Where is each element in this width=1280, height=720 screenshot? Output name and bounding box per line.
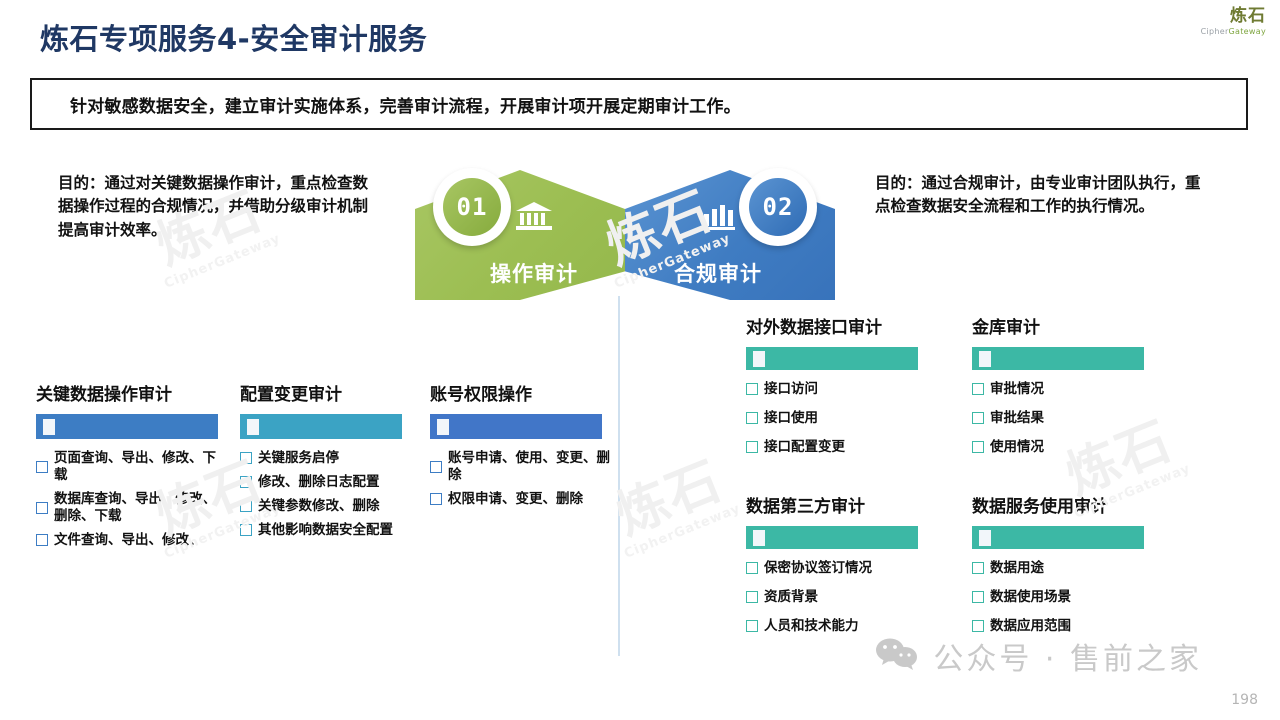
column-title: 金库审计 <box>972 313 1152 338</box>
bar-square-marker <box>247 419 259 435</box>
logo-en-part1: Cipher <box>1201 27 1229 36</box>
column-title: 关键数据操作审计 <box>36 380 226 405</box>
watermark-big-text: 炼石 <box>601 449 738 549</box>
checkbox-icon[interactable] <box>746 591 758 603</box>
checkbox-icon[interactable] <box>240 452 252 464</box>
chevron-badge-01-number: 01 <box>443 178 501 236</box>
checkbox-icon[interactable] <box>430 493 442 505</box>
list-item[interactable]: 人员和技术能力 <box>746 618 936 635</box>
list-item-label: 数据库查询、导出、修改、删除、下载 <box>54 491 226 525</box>
purpose-right-text: 通过合规审计，由专业审计团队执行，重点检查数据安全流程和工作的执行情况。 <box>875 174 1201 215</box>
list-item-label: 文件查询、导出、修改、 <box>54 532 203 549</box>
list-item-label: 使用情况 <box>990 439 1044 456</box>
checklist: 账号申请、使用、变更、删除 权限申请、变更、删除 <box>430 450 610 508</box>
purpose-right: 目的：通过合规审计，由专业审计团队执行，重点检查数据安全流程和工作的执行情况。 <box>875 172 1215 219</box>
column-title: 数据第三方审计 <box>746 492 936 517</box>
vertical-divider <box>618 296 620 656</box>
list-item-label: 接口使用 <box>764 410 818 427</box>
list-item[interactable]: 页面查询、导出、修改、下载 <box>36 450 226 484</box>
bar-square-marker <box>437 419 449 435</box>
bar-square-marker <box>753 530 765 546</box>
checklist: 数据用途 数据使用场景 数据应用范围 <box>972 560 1152 635</box>
checkbox-icon[interactable] <box>746 383 758 395</box>
column-title: 账号权限操作 <box>430 380 610 405</box>
list-item-label: 审批情况 <box>990 381 1044 398</box>
list-item[interactable]: 账号申请、使用、变更、删除 <box>430 450 610 484</box>
summary-banner-text: 针对敏感数据安全，建立审计实施体系，完善审计流程，开展审计项开展定期审计工作。 <box>32 92 741 117</box>
chevron-label-01: 操作审计 <box>429 258 639 288</box>
list-item-label: 关键参数修改、删除 <box>258 498 380 515</box>
footer-text: 公众号 · 售前之家 <box>933 634 1202 678</box>
list-item[interactable]: 数据使用场景 <box>972 589 1152 606</box>
column-external-data-interface-audit: 对外数据接口审计 接口访问 接口使用 接口配置变更 <box>746 313 926 468</box>
checkbox-icon[interactable] <box>746 412 758 424</box>
list-item[interactable]: 数据应用范围 <box>972 618 1152 635</box>
list-item[interactable]: 文件查询、导出、修改、 <box>36 532 226 549</box>
column-color-bar <box>746 347 918 370</box>
chevron-badge-01: 01 <box>433 168 511 246</box>
list-item[interactable]: 权限申请、变更、删除 <box>430 491 610 508</box>
list-item-label: 保密协议签订情况 <box>764 560 872 577</box>
wechat-icon <box>875 637 919 675</box>
checkbox-icon[interactable] <box>36 461 48 473</box>
column-color-bar <box>972 347 1144 370</box>
list-item[interactable]: 资质背景 <box>746 589 936 606</box>
list-item-label: 数据使用场景 <box>990 589 1071 606</box>
checkbox-icon[interactable] <box>972 441 984 453</box>
chevron-label-02: 合规审计 <box>613 258 823 288</box>
checkbox-icon[interactable] <box>746 620 758 632</box>
list-item[interactable]: 数据用途 <box>972 560 1152 577</box>
column-config-change-audit: 配置变更审计 关键服务启停 修改、删除日志配置 关键参数修改、删除 其他影响数据… <box>240 380 415 546</box>
checkbox-icon[interactable] <box>972 591 984 603</box>
list-item[interactable]: 使用情况 <box>972 439 1152 456</box>
checkbox-icon[interactable] <box>240 524 252 536</box>
column-color-bar <box>240 414 402 439</box>
page-title: 炼石专项服务4-安全审计服务 <box>40 16 427 58</box>
list-item[interactable]: 接口使用 <box>746 410 926 427</box>
checkbox-icon[interactable] <box>36 534 48 546</box>
purpose-left-text: 通过对关键数据操作审计，重点检查数据操作过程的合规情况，并借助分级审计机制提高审… <box>58 174 368 239</box>
list-item[interactable]: 审批情况 <box>972 381 1152 398</box>
chevron-group: 操作审计 合规审计 01 02 <box>415 158 835 300</box>
bar-square-marker <box>979 530 991 546</box>
checkbox-icon[interactable] <box>240 476 252 488</box>
logo-english-text: CipherGateway <box>1201 28 1266 36</box>
list-item-label: 页面查询、导出、修改、下载 <box>54 450 226 484</box>
list-item[interactable]: 关键参数修改、删除 <box>240 498 415 515</box>
list-item-label: 修改、删除日志配置 <box>258 474 380 491</box>
bar-square-marker <box>753 351 765 367</box>
list-item[interactable]: 数据库查询、导出、修改、删除、下载 <box>36 491 226 525</box>
column-key-data-operation-audit: 关键数据操作审计 页面查询、导出、修改、下载 数据库查询、导出、修改、删除、下载… <box>36 380 226 555</box>
column-data-service-usage-audit: 数据服务使用审计 数据用途 数据使用场景 数据应用范围 <box>972 492 1152 647</box>
watermark: 炼石 CipherGateway <box>601 449 743 562</box>
list-item-label: 审批结果 <box>990 410 1044 427</box>
bar-square-marker <box>43 419 55 435</box>
list-item-label: 数据用途 <box>990 560 1044 577</box>
column-title: 配置变更审计 <box>240 380 415 405</box>
list-item[interactable]: 保密协议签订情况 <box>746 560 936 577</box>
checkbox-icon[interactable] <box>746 441 758 453</box>
list-item-label: 其他影响数据安全配置 <box>258 522 393 539</box>
list-item-label: 数据应用范围 <box>990 618 1071 635</box>
checklist: 关键服务启停 修改、删除日志配置 关键参数修改、删除 其他影响数据安全配置 <box>240 450 415 539</box>
list-item[interactable]: 其他影响数据安全配置 <box>240 522 415 539</box>
column-title: 对外数据接口审计 <box>746 313 926 338</box>
checklist: 接口访问 接口使用 接口配置变更 <box>746 381 926 456</box>
column-third-party-data-audit: 数据第三方审计 保密协议签订情况 资质背景 人员和技术能力 <box>746 492 936 647</box>
list-item[interactable]: 关键服务启停 <box>240 450 415 467</box>
checklist: 审批情况 审批结果 使用情况 <box>972 381 1152 456</box>
column-color-bar <box>430 414 602 439</box>
purpose-left-lead: 目的： <box>58 174 105 192</box>
column-color-bar <box>746 526 918 549</box>
list-item[interactable]: 接口访问 <box>746 381 926 398</box>
list-item-label: 资质背景 <box>764 589 818 606</box>
column-vault-audit: 金库审计 审批情况 审批结果 使用情况 <box>972 313 1152 468</box>
list-item[interactable]: 审批结果 <box>972 410 1152 427</box>
list-item[interactable]: 接口配置变更 <box>746 439 926 456</box>
purpose-left: 目的：通过对关键数据操作审计，重点检查数据操作过程的合规情况，并借助分级审计机制… <box>58 172 378 242</box>
page-number: 198 <box>1231 692 1258 708</box>
chevron-badge-02: 02 <box>739 168 817 246</box>
column-title: 数据服务使用审计 <box>972 492 1152 517</box>
checkbox-icon[interactable] <box>972 412 984 424</box>
list-item[interactable]: 修改、删除日志配置 <box>240 474 415 491</box>
watermark-small-text: CipherGateway <box>623 502 743 562</box>
checkbox-icon[interactable] <box>430 461 442 473</box>
chevron-badge-02-number: 02 <box>749 178 807 236</box>
list-item-label: 账号申请、使用、变更、删除 <box>448 450 610 484</box>
checkbox-icon[interactable] <box>746 562 758 574</box>
bar-square-marker <box>979 351 991 367</box>
purpose-right-lead: 目的： <box>875 174 922 192</box>
checklist: 页面查询、导出、修改、下载 数据库查询、导出、修改、删除、下载 文件查询、导出、… <box>36 450 226 548</box>
list-item-label: 权限申请、变更、删除 <box>448 491 583 508</box>
checkbox-icon[interactable] <box>972 562 984 574</box>
checkbox-icon[interactable] <box>972 620 984 632</box>
footer-credit: 公众号 · 售前之家 <box>875 634 1202 678</box>
checkbox-icon[interactable] <box>972 383 984 395</box>
column-account-permission-operation: 账号权限操作 账号申请、使用、变更、删除 权限申请、变更、删除 <box>430 380 610 515</box>
logo-chinese-text: 炼石 <box>1201 8 1266 25</box>
brand-logo: 炼石 CipherGateway <box>1201 8 1266 36</box>
checkbox-icon[interactable] <box>36 502 48 514</box>
list-item-label: 人员和技术能力 <box>764 618 859 635</box>
checklist: 保密协议签订情况 资质背景 人员和技术能力 <box>746 560 936 635</box>
column-color-bar <box>36 414 218 439</box>
list-item-label: 接口配置变更 <box>764 439 845 456</box>
slide-root: 炼石专项服务4-安全审计服务 炼石 CipherGateway 针对敏感数据安全… <box>0 0 1280 720</box>
list-item-label: 关键服务启停 <box>258 450 339 467</box>
logo-en-part2: Gateway <box>1229 27 1266 36</box>
checkbox-icon[interactable] <box>240 500 252 512</box>
list-item-label: 接口访问 <box>764 381 818 398</box>
column-color-bar <box>972 526 1144 549</box>
summary-banner: 针对敏感数据安全，建立审计实施体系，完善审计流程，开展审计项开展定期审计工作。 <box>30 78 1248 130</box>
